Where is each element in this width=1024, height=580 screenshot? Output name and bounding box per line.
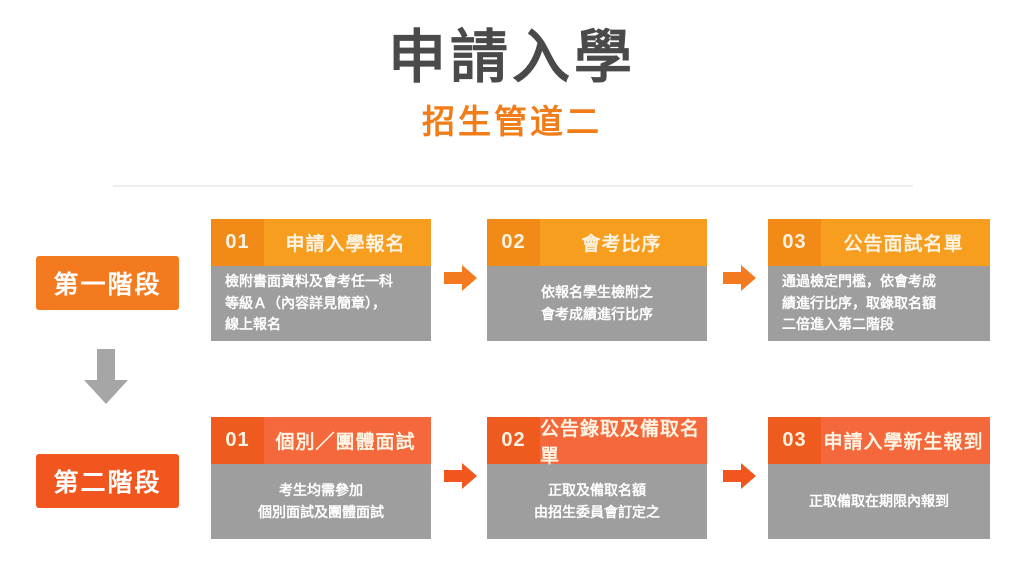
card-body-line: 二倍進入第二階段 [782, 314, 894, 336]
card-title: 公告錄取及備取名單 [540, 417, 707, 464]
card-body: 依報名學生檢附之 會考成績進行比序 [487, 266, 707, 341]
card-number: 02 [487, 417, 540, 464]
card-body: 檢附書面資料及會考任一科 等級Ａ（內容詳見簡章）， 線上報名 [211, 266, 431, 341]
stage-badge-1: 第一階段 [36, 256, 179, 310]
card-body-line: 正取備取在期限內報到 [809, 491, 949, 513]
arrow-down-icon [83, 349, 129, 405]
card-body-line: 正取及備取名額 [548, 480, 646, 502]
stage-row-2: 第二階段 01 個別／團體面試 考生均需參加 個別面試及團體面試 02 公告錄取… [0, 417, 1024, 542]
arrow-right-icon [444, 263, 478, 293]
card-title: 公告面試名單 [821, 219, 990, 266]
card-header: 01 個別／團體面試 [211, 417, 431, 464]
card-number: 01 [211, 219, 264, 266]
flow-card-stage2-step3[interactable]: 03 申請入學新生報到 正取備取在期限內報到 [768, 417, 988, 539]
card-body-line: 由招生委員會訂定之 [534, 502, 660, 524]
flow-card-stage2-step2[interactable]: 02 公告錄取及備取名單 正取及備取名額 由招生委員會訂定之 [487, 417, 707, 539]
arrow-right-icon [723, 461, 757, 491]
stage-badge-2: 第二階段 [36, 454, 179, 508]
card-title: 申請入學報名 [264, 219, 431, 266]
card-header: 03 公告面試名單 [768, 219, 990, 266]
stage-row-1: 第一階段 01 申請入學報名 檢附書面資料及會考任一科 等級Ａ（內容詳見簡章），… [0, 219, 1024, 344]
flow-card-stage1-step1[interactable]: 01 申請入學報名 檢附書面資料及會考任一科 等級Ａ（內容詳見簡章）， 線上報名 [211, 219, 431, 341]
card-title: 個別／團體面試 [264, 417, 431, 464]
card-body-line: 通過檢定門檻，依會考成 [782, 271, 936, 293]
page-header: 申請入學 招生管道二 [0, 0, 1024, 142]
card-header: 03 申請入學新生報到 [768, 417, 990, 464]
card-body: 正取及備取名額 由招生委員會訂定之 [487, 464, 707, 539]
card-body-line: 等級Ａ（內容詳見簡章）， [225, 293, 386, 315]
card-body-line: 檢附書面資料及會考任一科 [225, 271, 393, 293]
card-title: 申請入學新生報到 [821, 417, 990, 464]
card-header: 01 申請入學報名 [211, 219, 431, 266]
card-header: 02 公告錄取及備取名單 [487, 417, 707, 464]
card-body: 考生均需參加 個別面試及團體面試 [211, 464, 431, 539]
arrow-right-icon [723, 263, 757, 293]
flow-card-stage1-step3[interactable]: 03 公告面試名單 通過檢定門檻，依會考成 績進行比序，取錄取名額 二倍進入第二… [768, 219, 988, 341]
flow-card-stage2-step1[interactable]: 01 個別／團體面試 考生均需參加 個別面試及團體面試 [211, 417, 431, 539]
card-body-line: 線上報名 [225, 314, 281, 336]
card-body: 正取備取在期限內報到 [768, 464, 990, 539]
card-body: 通過檢定門檻，依會考成 績進行比序，取錄取名額 二倍進入第二階段 [768, 266, 990, 341]
card-title: 會考比序 [540, 219, 707, 266]
page-subtitle: 招生管道二 [0, 92, 1024, 142]
card-body-line: 個別面試及團體面試 [258, 502, 384, 524]
arrow-right-icon [444, 461, 478, 491]
card-body-line: 會考成績進行比序 [541, 304, 653, 326]
flow-card-stage1-step2[interactable]: 02 會考比序 依報名學生檢附之 會考成績進行比序 [487, 219, 707, 341]
card-number: 03 [768, 219, 821, 266]
card-body-line: 依報名學生檢附之 [541, 282, 653, 304]
card-number: 02 [487, 219, 540, 266]
card-header: 02 會考比序 [487, 219, 707, 266]
page-title: 申請入學 [0, 0, 1024, 92]
card-number: 03 [768, 417, 821, 464]
card-body-line: 考生均需參加 [279, 480, 363, 502]
card-body-line: 績進行比序，取錄取名額 [782, 293, 936, 315]
header-divider [113, 185, 913, 187]
card-number: 01 [211, 417, 264, 464]
